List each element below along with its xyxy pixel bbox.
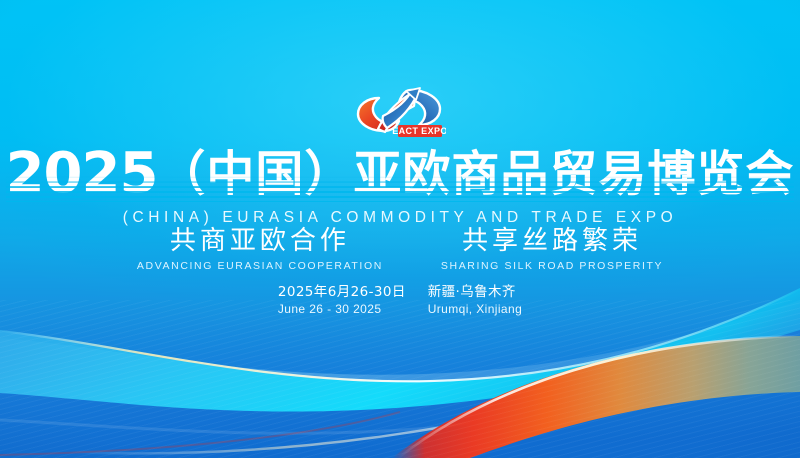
slogan-right-english: SHARING SILK ROAD PROSPERITY: [441, 260, 663, 272]
main-title: 2025（中国）亚欧商品贸易博览会: [6, 146, 795, 202]
event-venue: 新疆·乌鲁木齐 Urumqi, Xinjiang: [428, 283, 522, 317]
event-venue-english: Urumqi, Xinjiang: [428, 301, 522, 317]
slogan-left-chinese: 共商亚欧合作: [137, 227, 383, 256]
title-english: (CHINA) EURASIA COMMODITY AND TRADE EXPO: [0, 209, 800, 227]
event-info: 2025年6月26-30日 June 26 - 30 2025 新疆·乌鲁木齐 …: [0, 283, 800, 317]
title-chinese: （中国）亚欧商品贸易博览会: [157, 146, 794, 202]
logo-wordmark-text: EACT EXPO: [392, 126, 446, 136]
title-year: 2025: [6, 141, 158, 206]
slogan-left: 共商亚欧合作 ADVANCING EURASIAN COOPERATION: [137, 227, 383, 272]
logo-container: EACT EXPO: [0, 84, 800, 140]
slogan-row: 共商亚欧合作 ADVANCING EURASIAN COOPERATION 共享…: [0, 227, 800, 272]
title-block: 2025（中国）亚欧商品贸易博览会 (CHINA) EURASIA COMMOD…: [0, 146, 800, 227]
event-venue-chinese: 新疆·乌鲁木齐: [428, 283, 522, 301]
slogan-right: 共享丝路繁荣 SHARING SILK ROAD PROSPERITY: [441, 227, 663, 272]
slogan-right-chinese: 共享丝路繁荣: [441, 227, 663, 256]
expo-banner: EACT EXPO 2025（中国）亚欧商品贸易博览会 (CHINA) EURA…: [0, 0, 800, 458]
event-date: 2025年6月26-30日 June 26 - 30 2025: [278, 283, 406, 317]
event-date-english: June 26 - 30 2025: [278, 301, 406, 317]
event-date-chinese: 2025年6月26-30日: [278, 283, 406, 301]
eact-expo-logo-icon: EACT EXPO: [354, 85, 446, 139]
slogan-left-english: ADVANCING EURASIAN COOPERATION: [137, 260, 383, 272]
